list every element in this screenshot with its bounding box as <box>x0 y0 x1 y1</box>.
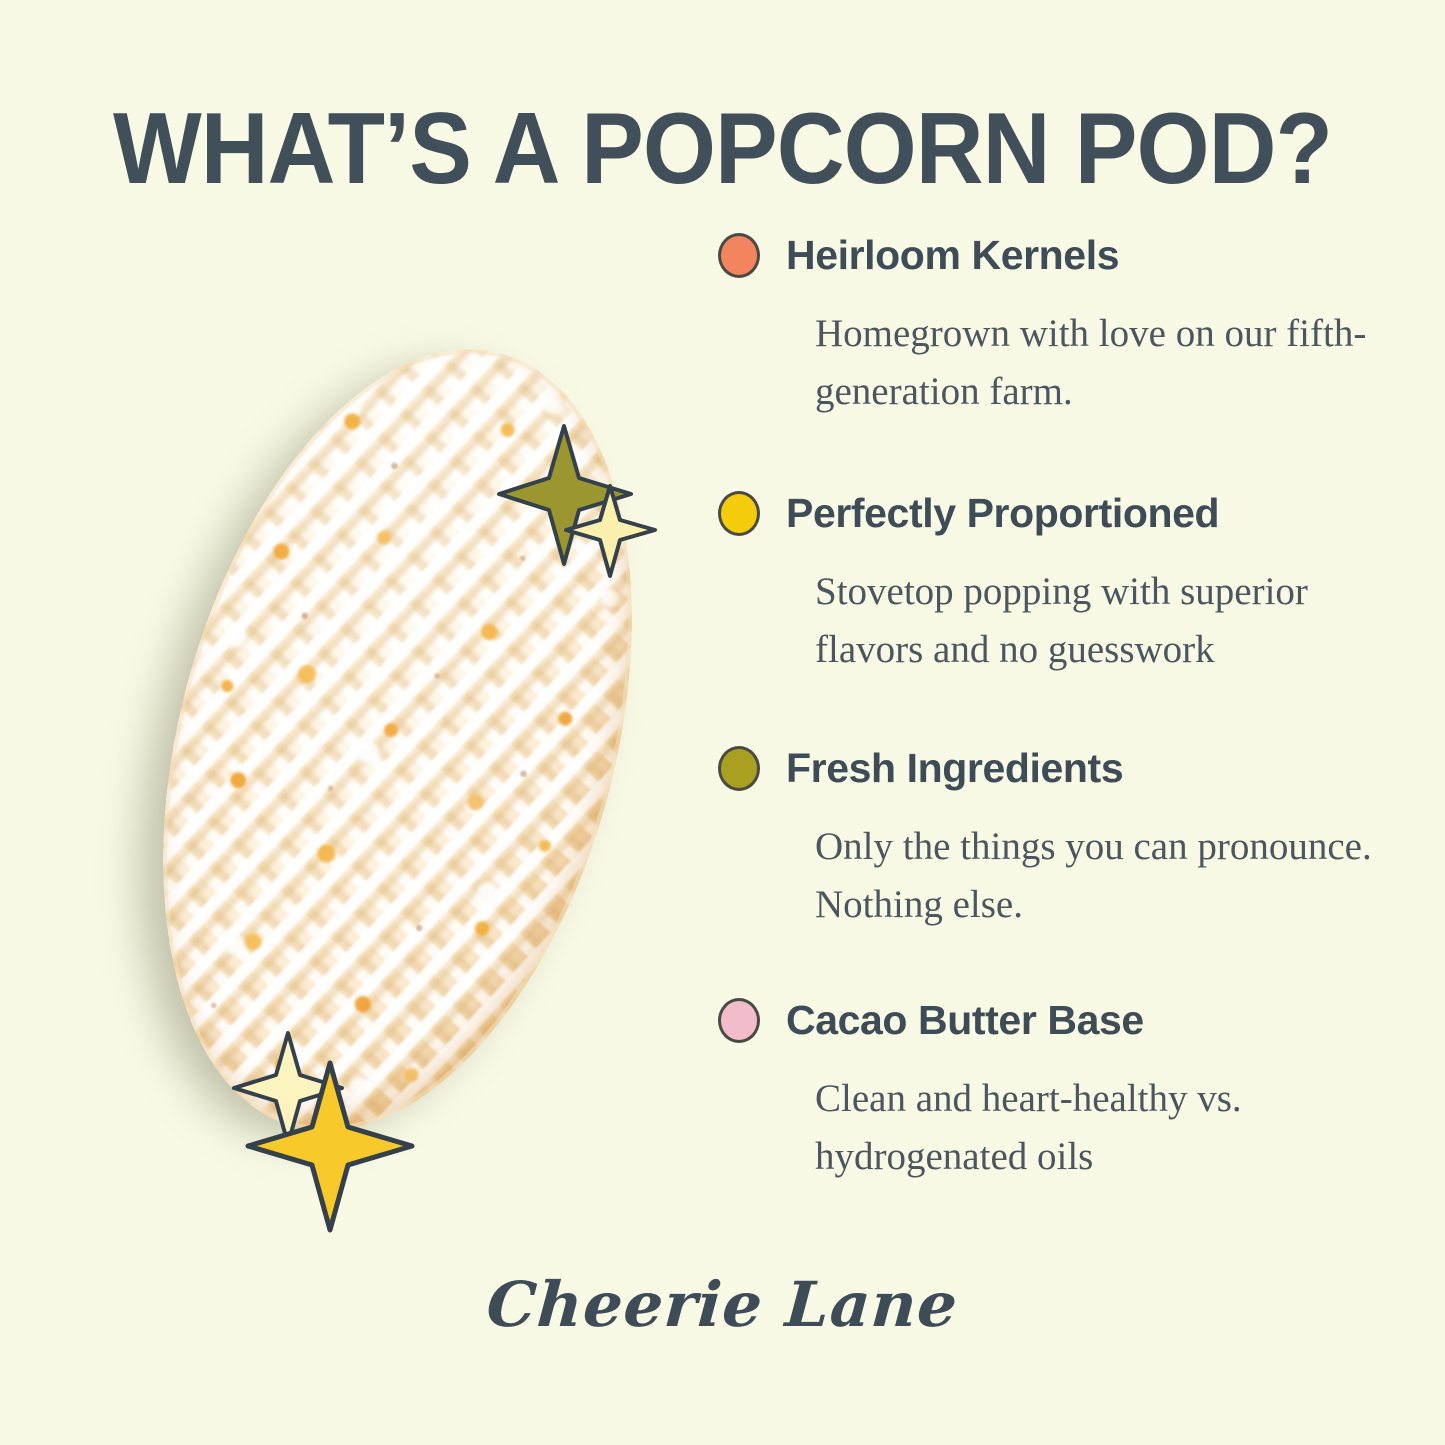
feature-title: Heirloom Kernels <box>786 232 1119 279</box>
product-illustration <box>120 300 720 1200</box>
popcorn-pod-infographic: WHAT’S A POPCORN POD? Heirloom Kernels <box>0 0 1445 1445</box>
feature-item-fresh-ingredients: Fresh Ingredients Only the things you ca… <box>718 745 1418 933</box>
bullet-dot-icon <box>718 998 760 1043</box>
feature-list: Heirloom Kernels Homegrown with love on … <box>718 232 1418 1194</box>
feature-description: Homegrown with love on our fifth-generat… <box>815 305 1418 420</box>
feature-item-perfectly-proportioned: Perfectly Proportioned Stovetop popping … <box>718 490 1418 678</box>
feature-description: Stovetop popping with superior flavors a… <box>815 563 1418 678</box>
feature-description: Only the things you can pronounce. Nothi… <box>815 818 1418 933</box>
feature-title: Perfectly Proportioned <box>786 490 1219 537</box>
bullet-dot-icon <box>718 491 760 536</box>
feature-item-cacao-butter-base: Cacao Butter Base Clean and heart-health… <box>718 997 1418 1185</box>
page-title: WHAT’S A POPCORN POD? <box>51 96 1395 202</box>
brand-logo: Cheerie Lane <box>0 1268 1445 1341</box>
bullet-dot-icon <box>718 746 760 791</box>
feature-heading-row: Cacao Butter Base <box>718 997 1418 1044</box>
feature-title: Fresh Ingredients <box>786 745 1123 792</box>
feature-title: Cacao Butter Base <box>786 997 1144 1044</box>
bullet-dot-icon <box>718 233 760 278</box>
popcorn-pod-image <box>84 297 711 1182</box>
feature-item-heirloom-kernels: Heirloom Kernels Homegrown with love on … <box>718 232 1418 420</box>
feature-heading-row: Fresh Ingredients <box>718 745 1418 792</box>
feature-description: Clean and heart-healthy vs. hydrogenated… <box>815 1070 1418 1185</box>
feature-heading-row: Perfectly Proportioned <box>718 490 1418 537</box>
feature-heading-row: Heirloom Kernels <box>718 232 1418 279</box>
